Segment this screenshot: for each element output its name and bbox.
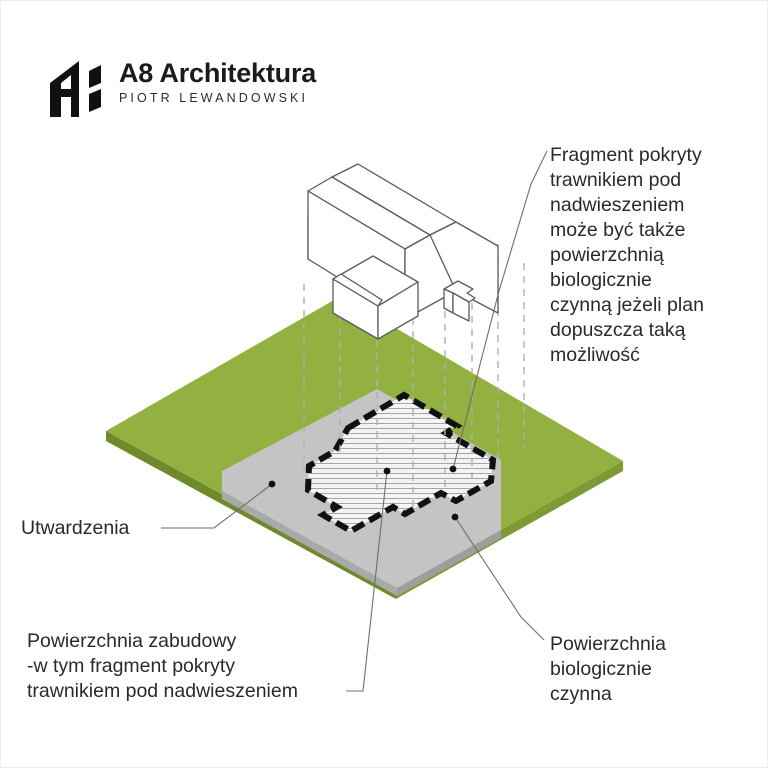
leader-dot-paving: [269, 481, 276, 488]
diagram-canvas: A8 Architektura PIOTR LEWANDOWSKI Fragme…: [0, 0, 768, 768]
annotation-overhang: Fragment pokryty trawnikiem pod nadwiesz…: [550, 143, 765, 368]
brand-logo-text: A8 Architektura PIOTR LEWANDOWSKI: [119, 59, 316, 105]
building-notch-front: [444, 289, 453, 313]
leader-dot-overhang: [450, 466, 457, 473]
brand-title: A8 Architektura: [119, 59, 316, 87]
building-volume: [308, 164, 498, 339]
brand-logo: A8 Architektura PIOTR LEWANDOWSKI: [49, 59, 316, 117]
leader-dot-bio: [452, 514, 459, 521]
brand-subtitle: PIOTR LEWANDOWSKI: [119, 91, 316, 105]
leader-dot-built: [384, 468, 391, 475]
annotation-built-area: Powierzchnia zabudowy -w tym fragment po…: [27, 629, 367, 704]
annotation-paving: Utwardzenia: [21, 516, 221, 541]
a8-building-mark-icon: [49, 61, 107, 117]
annotation-biologically-active: Powierzchnia biologicznie czynna: [550, 632, 750, 707]
